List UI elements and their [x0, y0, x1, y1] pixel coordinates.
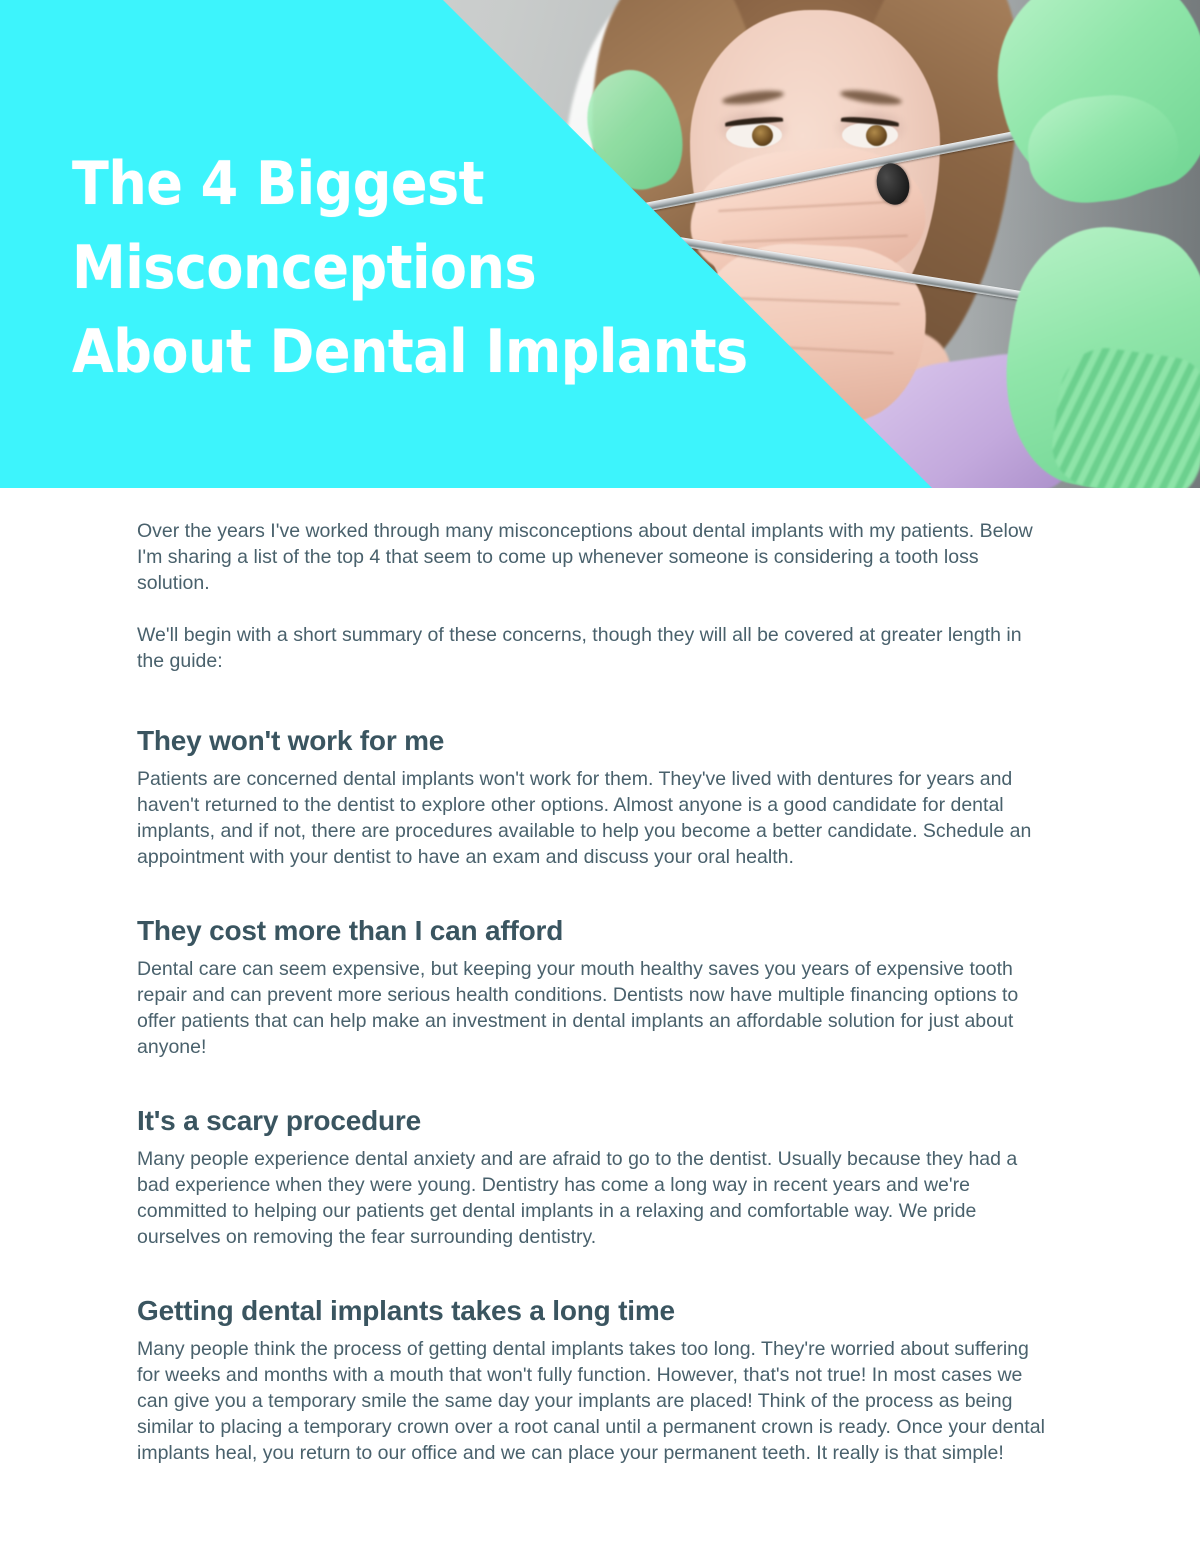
page-title: The 4 Biggest Misconceptions About Denta… — [72, 142, 772, 394]
header-banner: The 4 Biggest Misconceptions About Denta… — [0, 0, 1200, 488]
section-heading: It's a scary procedure — [137, 1104, 1057, 1138]
intro-paragraph-1: Over the years I've worked through many … — [137, 518, 1047, 596]
section-heading: They cost more than I can afford — [137, 914, 1057, 948]
spacer — [137, 1270, 1057, 1294]
spacer — [137, 1080, 1057, 1104]
spacer — [137, 700, 1057, 724]
section-getting-dental-implants-takes-a-long-time: Getting dental implants takes a long tim… — [137, 1294, 1057, 1466]
section-heading: They won't work for me — [137, 724, 1057, 758]
section-body: Patients are concerned dental implants w… — [137, 766, 1052, 870]
article-content: Over the years I've worked through many … — [0, 488, 1057, 1466]
patient-eye-right — [842, 122, 898, 148]
spacer — [137, 890, 1057, 914]
section-body: Dental care can seem expensive, but keep… — [137, 956, 1052, 1060]
iris-right — [866, 125, 887, 146]
intro-paragraph-2: We'll begin with a short summary of thes… — [137, 622, 1047, 674]
section-heading: Getting dental implants takes a long tim… — [137, 1294, 1057, 1328]
section-body: Many people experience dental anxiety an… — [137, 1146, 1052, 1250]
section-they-wont-work-for-me: They won't work for me Patients are conc… — [137, 724, 1057, 870]
section-they-cost-more-than-i-can-afford: They cost more than I can afford Dental … — [137, 914, 1057, 1060]
section-its-a-scary-procedure: It's a scary procedure Many people exper… — [137, 1104, 1057, 1250]
section-body: Many people think the process of getting… — [137, 1336, 1052, 1466]
